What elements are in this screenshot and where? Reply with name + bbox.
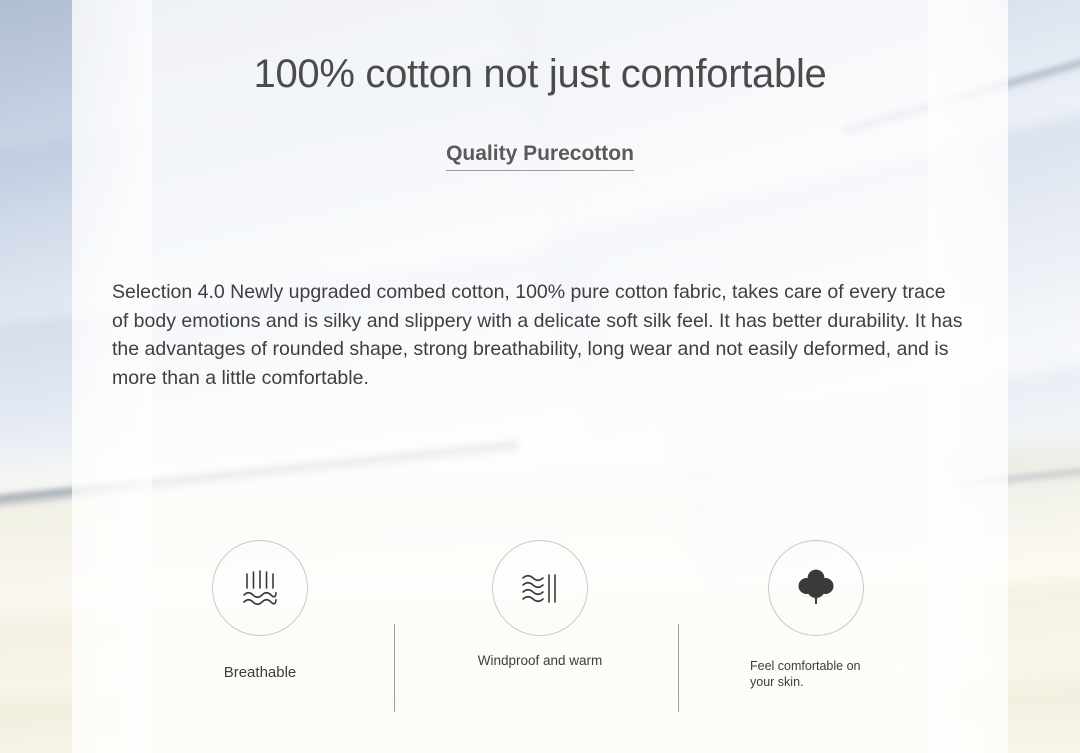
cotton-boll-icon [790, 562, 842, 614]
feature-label: Feel comfortable on your skin. [706, 658, 926, 690]
feature-divider [394, 624, 395, 712]
feature-icon-circle [492, 540, 588, 636]
feature-label: Breathable [150, 664, 370, 681]
product-detail-banner: 100% cotton not just comfortable Quality… [0, 0, 1080, 753]
feature-item-breathable: Breathable [150, 540, 370, 681]
feature-label: Windproof and warm [430, 652, 650, 669]
feature-row: Breathable Windproof [150, 540, 950, 700]
feature-divider [678, 624, 679, 712]
feature-item-windproof: Windproof and warm [430, 540, 650, 669]
feature-icon-circle [212, 540, 308, 636]
windproof-warm-icon [514, 562, 566, 614]
breathable-airflow-icon [234, 562, 286, 614]
subtitle: Quality Purecotton [446, 142, 634, 171]
subtitle-wrapper: Quality Purecotton [0, 142, 1080, 171]
page-title: 100% cotton not just comfortable [0, 52, 1080, 97]
feature-item-skin-comfort: Feel comfortable on your skin. [706, 540, 926, 690]
content-layer: 100% cotton not just comfortable Quality… [0, 0, 1080, 753]
feature-icon-circle [768, 540, 864, 636]
body-paragraph: Selection 4.0 Newly upgraded combed cott… [112, 278, 964, 392]
